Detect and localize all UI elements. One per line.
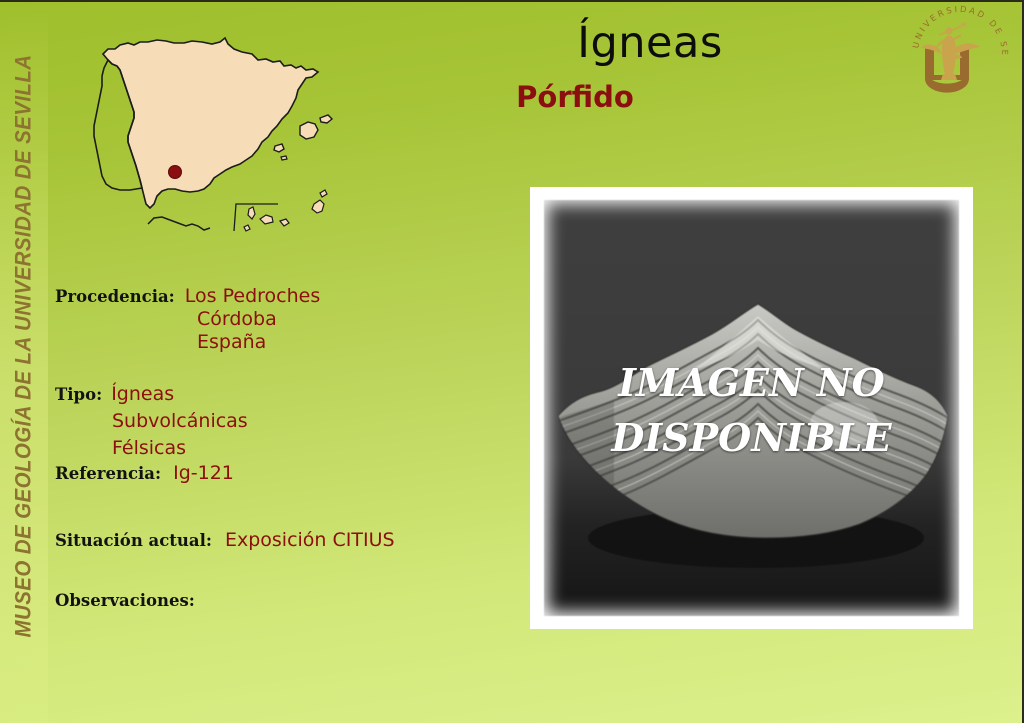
specimen-photo-frame (530, 187, 973, 629)
field-value-procedencia-locality: Los Pedroches (185, 285, 320, 307)
field-label-referencia: Referencia: (55, 464, 161, 483)
field-label-procedencia: Procedencia: (55, 287, 175, 306)
ibiza-island (274, 144, 284, 152)
spain-mainland-shape (103, 38, 318, 208)
field-tipo-composition: Félsicas (112, 437, 495, 459)
field-value-referencia: Ig-121 (173, 462, 234, 484)
field-label-situacion-actual: Situación actual: (55, 531, 212, 550)
top-edge-rule (0, 0, 1024, 2)
specimen-fields: Procedencia: Los Pedroches Córdoba Españ… (55, 285, 495, 610)
field-procedencia-country: España (197, 331, 495, 353)
locality-dot (169, 166, 182, 179)
page-subtitle: Pórfido (345, 80, 805, 114)
african-coast-outline (148, 217, 210, 230)
page-title: Ígneas (420, 18, 880, 68)
field-tipo: Tipo: Ígneas (55, 383, 495, 405)
field-referencia: Referencia: Ig-121 (55, 462, 495, 484)
field-situacion-actual: Situación actual: Exposición CITIUS (55, 529, 495, 551)
field-value-tipo-composition: Félsicas (112, 437, 186, 459)
field-observaciones: Observaciones: (55, 591, 495, 610)
field-value-procedencia-country: España (197, 331, 266, 353)
specimen-card: MUSEO DE GEOLOGÍA DE LA UNIVERSIDAD DE S… (0, 0, 1024, 723)
field-value-tipo-class: Ígneas (111, 383, 174, 405)
field-label-observaciones: Observaciones: (55, 591, 195, 610)
canary-islands (244, 190, 327, 231)
field-value-situacion-actual: Exposición CITIUS (225, 529, 395, 551)
field-procedencia: Procedencia: Los Pedroches (55, 285, 495, 307)
museum-side-band: MUSEO DE GEOLOGÍA DE LA UNIVERSIDAD DE S… (0, 0, 48, 723)
formentera-island (281, 156, 287, 160)
museum-name-vertical: MUSEO DE GEOLOGÍA DE LA UNIVERSIDAD DE S… (11, 0, 36, 696)
specimen-photo (544, 200, 959, 616)
map-of-spain (62, 18, 362, 268)
field-label-tipo: Tipo: (55, 385, 102, 404)
university-logo: UNIVERSIDAD DE SEVILLA (908, 4, 1012, 94)
menorca-island (320, 115, 332, 123)
balearic-islands (300, 122, 318, 139)
field-tipo-subclass: Subvolcánicas (112, 410, 495, 432)
field-value-procedencia-province: Córdoba (197, 308, 277, 330)
field-value-tipo-subclass: Subvolcánicas (112, 410, 248, 432)
field-procedencia-province: Córdoba (197, 308, 495, 330)
